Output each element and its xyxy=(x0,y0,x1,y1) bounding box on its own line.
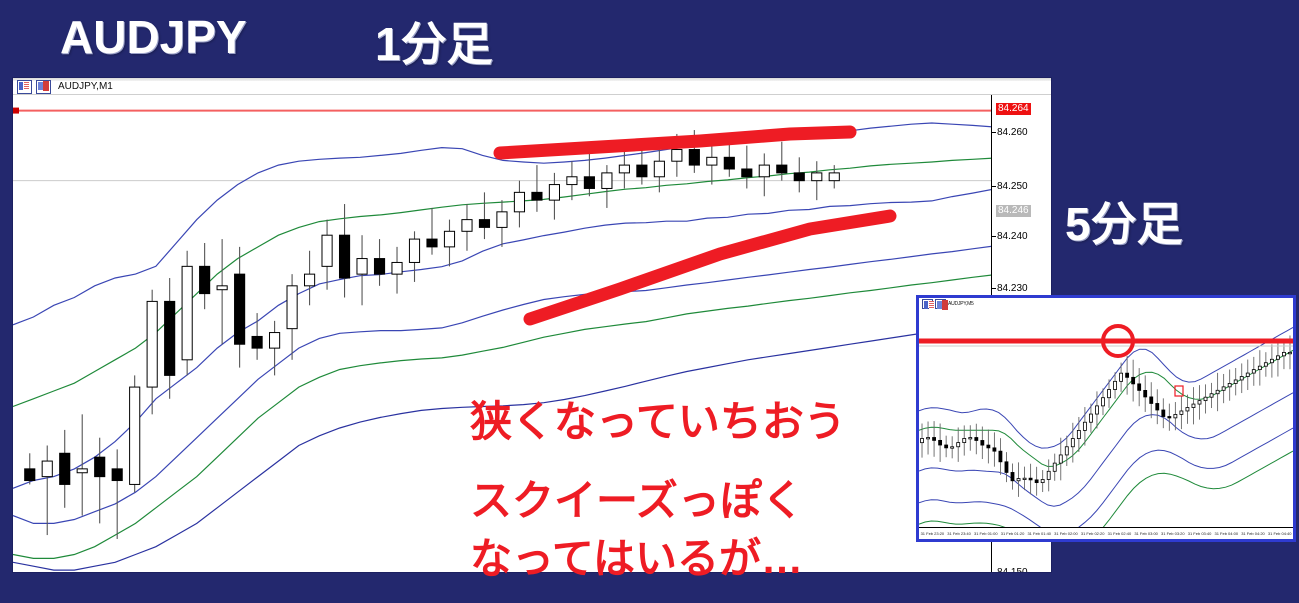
candle-body xyxy=(270,333,280,349)
candle-body xyxy=(777,165,787,173)
candle-body xyxy=(654,161,664,177)
candle-body xyxy=(1089,414,1092,422)
last-price-badge: 84.246 xyxy=(996,205,1031,217)
candle-body xyxy=(1065,447,1068,455)
candle-body xyxy=(1114,381,1117,389)
candle-body xyxy=(1138,384,1141,391)
candle-body xyxy=(462,220,472,232)
price-tick: 84.260 xyxy=(992,128,1028,138)
inset-time-label: 31 Feb 03:00 xyxy=(1133,528,1160,539)
candle-body xyxy=(130,387,140,484)
candle-body xyxy=(1180,411,1183,414)
inset-time-label: 31 Feb 23:20 xyxy=(919,528,946,539)
candle-body xyxy=(357,259,367,275)
candle-body xyxy=(1216,390,1219,393)
candle-body xyxy=(165,301,175,375)
inset-time-label: 31 Feb 01:00 xyxy=(972,528,999,539)
candle-body xyxy=(514,192,524,211)
candle-body xyxy=(1126,373,1129,377)
candle-body xyxy=(1192,404,1195,407)
candle-body xyxy=(1162,410,1165,417)
candle-body xyxy=(963,438,966,442)
annotation-line-1: 狭くなっていちおう xyxy=(470,388,846,449)
candle-body xyxy=(1282,352,1285,355)
inset-time-label: 31 Feb 03:40 xyxy=(1186,528,1213,539)
timeframe-1min-label: 1分足 xyxy=(375,8,493,74)
candle-body xyxy=(724,157,734,169)
candle-body xyxy=(444,231,454,247)
candle-body xyxy=(77,469,87,473)
candle-body xyxy=(999,451,1002,462)
candle-body xyxy=(1071,439,1074,447)
inset-time-label: 31 Feb 23:40 xyxy=(946,528,973,539)
candle-body xyxy=(1017,479,1020,481)
candle-body xyxy=(1168,417,1171,418)
candle-body xyxy=(427,239,437,247)
candle-body xyxy=(981,440,984,445)
inset-band xyxy=(919,393,1293,506)
candle-body xyxy=(305,274,315,286)
candle-body xyxy=(921,439,924,443)
candle-body xyxy=(975,438,978,441)
candle-body xyxy=(1204,397,1207,400)
candle-body xyxy=(933,437,936,440)
inset-chart-title: AUDJPY,M5 xyxy=(948,301,974,307)
candle-body xyxy=(322,235,332,266)
candle-body xyxy=(1156,403,1159,410)
candle-body xyxy=(1186,408,1189,411)
price-tick: 84.250 xyxy=(992,182,1028,192)
candle-body xyxy=(549,185,559,201)
candle-body xyxy=(987,445,990,448)
candle-body xyxy=(1228,383,1231,386)
candle-body xyxy=(637,165,647,177)
candle-body xyxy=(1222,387,1225,390)
candle-body xyxy=(1258,366,1261,369)
candle-body xyxy=(1270,359,1273,362)
candle-body xyxy=(742,169,752,177)
candle-body xyxy=(689,150,699,166)
inset-chart-svg xyxy=(919,310,1293,527)
candle-body xyxy=(1023,478,1026,479)
candle-body xyxy=(812,173,822,181)
candle-body xyxy=(1234,380,1237,383)
candle-body xyxy=(707,157,717,165)
page-root: AUDJPY 1分足 5分足 AUDJPY,M1 84.260 84.250 8… xyxy=(0,0,1299,603)
candle-body xyxy=(969,438,972,439)
price-tick: 84.230 xyxy=(992,284,1028,294)
candle-body xyxy=(392,262,402,274)
candle-body xyxy=(339,235,349,278)
candle-body xyxy=(1029,478,1032,480)
candle-body xyxy=(1041,479,1044,482)
inset-time-axis: 31 Feb 23:2031 Feb 23:4031 Feb 01:0031 F… xyxy=(919,527,1293,539)
candle-body xyxy=(794,173,804,181)
candle-body xyxy=(1144,390,1147,397)
candle-body xyxy=(945,445,948,448)
candle-body xyxy=(1108,390,1111,398)
lower-support xyxy=(530,216,890,319)
candle-body xyxy=(602,173,612,189)
inset-time-label: 31 Feb 03:20 xyxy=(1159,528,1186,539)
candle-body xyxy=(619,165,629,173)
candle-body xyxy=(939,440,942,445)
inset-time-label: 31 Feb 02:00 xyxy=(1053,528,1080,539)
inset-chart-titlebar: AUDJPY,M5 xyxy=(919,298,1293,310)
candle-body xyxy=(1120,373,1123,381)
inset-band xyxy=(919,350,1293,466)
candle-body xyxy=(672,150,682,162)
candle-body xyxy=(252,336,262,348)
candle-body xyxy=(957,443,960,447)
candle-body xyxy=(1059,455,1062,463)
candle-body xyxy=(200,266,210,293)
candle-body xyxy=(993,448,996,451)
candle-body xyxy=(1095,406,1098,414)
candle-body xyxy=(927,437,930,438)
candle-body xyxy=(374,259,384,275)
candle-body xyxy=(1077,430,1080,438)
chart-window-icon[interactable] xyxy=(922,299,933,309)
candle-body xyxy=(1035,480,1038,483)
candle-body xyxy=(235,274,245,344)
candle-body xyxy=(1011,472,1014,480)
candle-body xyxy=(1288,352,1291,353)
candle-body xyxy=(1198,401,1201,404)
candle-body xyxy=(759,165,769,177)
candle-body xyxy=(1101,398,1104,406)
chart-window-icon[interactable] xyxy=(17,80,32,94)
candle-body xyxy=(829,173,839,181)
candle-body xyxy=(1150,397,1153,404)
annotation-line-2: スクイーズっぽく xyxy=(470,467,804,528)
candle-body xyxy=(584,177,594,189)
candle-body xyxy=(1246,373,1249,376)
price-tick: 84.150 xyxy=(992,568,1028,573)
inset-band xyxy=(919,428,1293,527)
inset-chart-plot[interactable] xyxy=(919,310,1293,527)
main-chart-title: AUDJPY,M1 xyxy=(58,80,113,93)
main-chart-titlebar: AUDJPY,M1 xyxy=(13,78,1051,95)
inset-time-label: 31 Feb 01:20 xyxy=(999,528,1026,539)
candle-body xyxy=(147,301,157,387)
candle-body xyxy=(497,212,507,228)
candle-body xyxy=(1174,414,1177,417)
inset-time-label: 31 Feb 04:40 xyxy=(1266,528,1293,539)
candle-body xyxy=(1240,377,1243,380)
candle-body xyxy=(1053,463,1056,471)
currency-pair-label: AUDJPY xyxy=(60,10,247,64)
inset-time-label: 31 Feb 01:40 xyxy=(1026,528,1053,539)
candle-body xyxy=(112,469,122,481)
middle-ma xyxy=(13,158,991,406)
save-chart-icon[interactable] xyxy=(935,299,946,309)
candle-body xyxy=(287,286,297,329)
timeframe-5min-label: 5分足 xyxy=(1065,188,1183,254)
candle-body xyxy=(25,469,35,481)
inset-chart-window[interactable]: AUDJPY,M5 31 Feb 23:2031 Feb 23:4031 Feb… xyxy=(916,295,1296,542)
candle-body xyxy=(1132,377,1135,384)
inset-band xyxy=(919,451,1293,527)
candle-body xyxy=(1005,462,1008,473)
candle-body xyxy=(1276,356,1279,359)
candle-body xyxy=(1264,363,1267,366)
candle-body xyxy=(217,286,227,290)
candle-body xyxy=(532,192,542,200)
bid-price-badge: 84.264 xyxy=(996,103,1031,115)
candle-body xyxy=(567,177,577,185)
candle-body xyxy=(951,447,954,448)
candle-body xyxy=(182,266,192,359)
titlebar-divider xyxy=(13,78,1051,81)
candle-body xyxy=(409,239,419,262)
annotation-line-3: なってはいるが… xyxy=(470,525,803,586)
candle-body xyxy=(42,461,52,477)
save-chart-icon[interactable] xyxy=(36,80,51,94)
candle-body xyxy=(1083,422,1086,430)
candle-body xyxy=(1210,394,1213,397)
bid-line-handle xyxy=(13,108,19,114)
inset-time-label: 31 Feb 02:40 xyxy=(1106,528,1133,539)
inset-time-label: 31 Feb 04:00 xyxy=(1213,528,1240,539)
candle-body xyxy=(1047,471,1050,479)
inset-time-label: 31 Feb 02:20 xyxy=(1079,528,1106,539)
price-tick: 84.240 xyxy=(992,232,1028,242)
candle-body xyxy=(479,220,489,228)
inset-time-label: 31 Feb 04:20 xyxy=(1240,528,1267,539)
candle-body xyxy=(60,453,70,484)
candle-body xyxy=(95,457,105,476)
candle-body xyxy=(1252,370,1255,373)
